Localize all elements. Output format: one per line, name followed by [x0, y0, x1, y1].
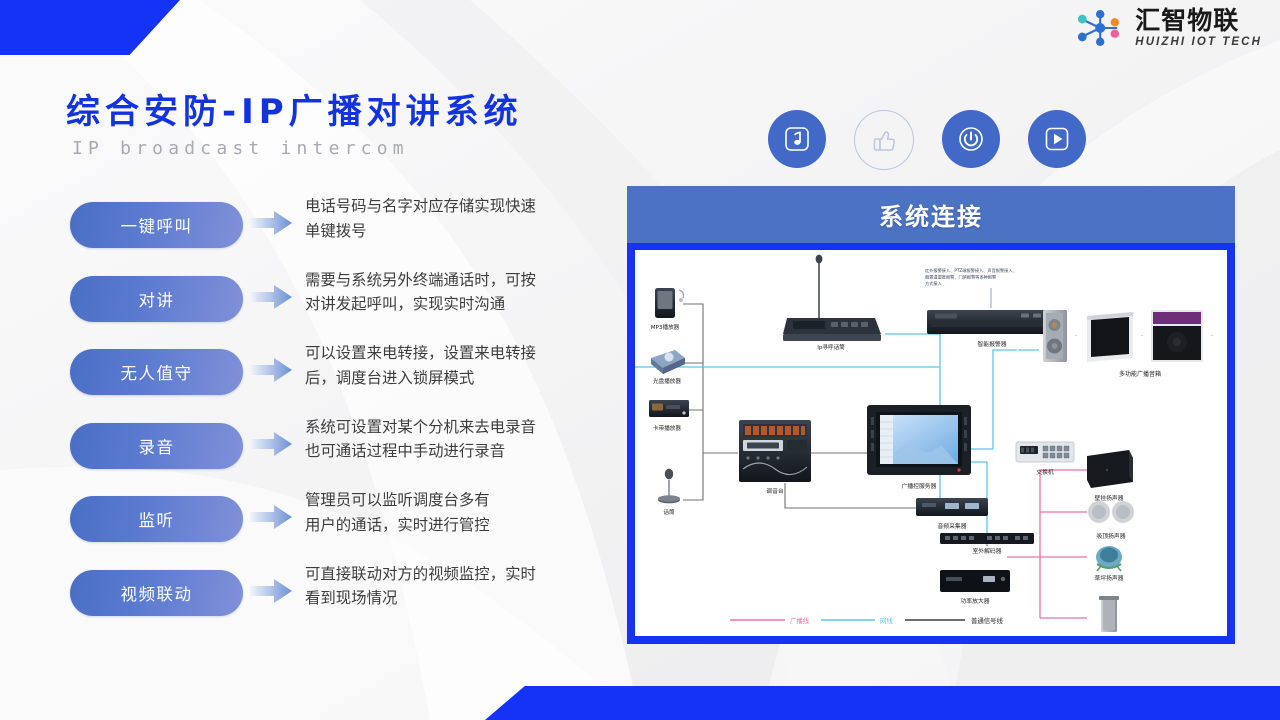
svg-text:智能报警器: 智能报警器 [978, 340, 1007, 348]
arrow-right-icon [243, 210, 299, 236]
device-power-amplifier [940, 570, 1010, 592]
svg-text:吸顶扬声器: 吸顶扬声器 [1097, 532, 1126, 540]
feature-description: 可以设置来电转接，设置来电转接 后，调度台进入锁屏模式 [299, 341, 620, 391]
speaker-lawn [1096, 546, 1122, 571]
music-note-icon-button[interactable] [768, 110, 826, 168]
page-subtitle: IP broadcast intercom [72, 138, 409, 159]
svg-text:广播线: 广播线 [790, 616, 810, 625]
svg-text:普通信号线: 普通信号线 [971, 616, 1004, 625]
play-icon-button[interactable] [1028, 110, 1086, 168]
svg-text:方式接入: 方式接入 [925, 280, 943, 287]
device-network-switch [1016, 442, 1074, 462]
svg-text:烟雾温湿度报警、门禁报警等多种报警: 烟雾温湿度报警、门禁报警等多种报警 [925, 274, 997, 281]
feature-description: 系统可设置对某个分机来去电录音 也可通话过程中手动进行录音 [299, 415, 620, 465]
svg-text:壁挂扬声器: 壁挂扬声器 [1095, 494, 1124, 502]
molecule-nodes-icon [1075, 8, 1127, 48]
arrow-right-icon [243, 357, 299, 383]
device-outdoor-decoder [940, 533, 1034, 544]
speaker-group-label: 多功能广播音箱 [1119, 370, 1161, 378]
brand-name-cn: 汇智物联 [1135, 8, 1262, 33]
feature-line: 需要与系统另外终端通话时，可按 [305, 268, 620, 293]
corner-accent-bottom-right [485, 686, 1280, 720]
feature-line: 电话号码与名字对应存储实现快速 [305, 194, 620, 219]
feature-pill[interactable]: 监听 [70, 496, 243, 542]
svg-text:·: · [1141, 333, 1143, 340]
system-connection-panel: 系统连接 [627, 186, 1235, 644]
feature-line: 可以设置来电转接，设置来电转接 [305, 341, 620, 366]
speaker-outdoor-column [1099, 596, 1119, 632]
feature-row: 一键呼叫 电话号码与名字对应存储实现快速 单键拨号 [70, 196, 620, 257]
speaker-wall-mounted [1087, 450, 1133, 488]
feature-pill[interactable]: 视频联动 [70, 570, 243, 616]
device-broadcast-server [867, 405, 971, 475]
page-title: 综合安防-IP广播对讲系统 [66, 84, 523, 133]
feature-line: 单键拨号 [305, 219, 620, 244]
feature-list: 一键呼叫 电话号码与名字对应存储实现快速 单键拨号 对讲 需要与系统另外终端通话… [70, 196, 620, 637]
feature-line: 也可通话过程中手动进行录音 [305, 439, 620, 464]
svg-text:话筒: 话筒 [663, 508, 675, 516]
feature-row: 对讲 需要与系统另外终端通话时，可按 对讲发起呼叫，实现实时沟通 [70, 270, 620, 331]
svg-text:功率放大器: 功率放大器 [961, 597, 990, 605]
arrow-right-icon [243, 504, 299, 530]
feature-line: 管理员可以监听调度台多有 [305, 488, 620, 513]
brand-name-en: HUIZHI IOT TECH [1135, 37, 1262, 49]
feature-row: 无人值守 可以设置来电转接，设置来电转接 后，调度台进入锁屏模式 [70, 343, 620, 404]
svg-text:Ip寻呼话筒: Ip寻呼话筒 [817, 343, 845, 351]
feature-line: 后，调度台进入锁屏模式 [305, 366, 620, 391]
arrow-right-icon [243, 284, 299, 310]
feature-pill[interactable]: 无人值守 [70, 349, 243, 395]
svg-text:红外报警接入、PTZ球报警接入、声音报警接入、: 红外报警接入、PTZ球报警接入、声音报警接入、 [925, 267, 1017, 274]
svg-text:广播控服务器: 广播控服务器 [902, 482, 937, 490]
feature-description: 管理员可以监听调度台多有 用户的通话，实时进行管控 [299, 488, 620, 538]
header-icon-row [768, 110, 1086, 170]
device-tape-player [649, 400, 689, 417]
svg-text:草坪扬声器: 草坪扬声器 [1095, 574, 1124, 582]
power-icon-button[interactable] [942, 110, 1000, 168]
feature-row: 监听 管理员可以监听调度台多有 用户的通话，实时进行管控 [70, 490, 620, 551]
svg-text:·: · [1211, 333, 1213, 340]
feature-row: 视频联动 可直接联动对方的视频监控，实时 看到现场情况 [70, 564, 620, 625]
thumbs-up-icon-button[interactable] [854, 110, 914, 170]
feature-description: 需要与系统另外终端通话时，可按 对讲发起呼叫，实现实时沟通 [299, 268, 620, 318]
feature-line: 可直接联动对方的视频监控，实时 [305, 562, 620, 587]
svg-text:光盘播放器: 光盘播放器 [653, 377, 681, 385]
svg-text:网线: 网线 [880, 616, 893, 625]
svg-text:MP3播放器: MP3播放器 [651, 323, 680, 331]
svg-text:音频采集器: 音频采集器 [938, 522, 967, 530]
system-topology-diagram: MP3播放器 光盘播放器 卡带播放器 [635, 250, 1227, 636]
feature-pill[interactable]: 对讲 [70, 276, 243, 322]
brand-logo: 汇智物联 HUIZHI IOT TECH [1075, 8, 1262, 49]
panel-header: 系统连接 [627, 186, 1235, 243]
feature-description: 可直接联动对方的视频监控，实时 看到现场情况 [299, 562, 620, 612]
feature-line: 用户的通话，实时进行管控 [305, 513, 620, 538]
device-alarm-unit [927, 310, 1057, 334]
device-audio-collector [916, 498, 988, 516]
feature-pill[interactable]: 一键呼叫 [70, 202, 243, 248]
svg-text:室外解码器: 室外解码器 [973, 547, 1002, 555]
feature-row: 录音 系统可设置对某个分机来去电录音 也可通话过程中手动进行录音 [70, 417, 620, 478]
arrow-right-icon [243, 431, 299, 457]
svg-text:调音台: 调音台 [766, 487, 784, 495]
svg-text:·: · [1075, 333, 1077, 340]
feature-line: 系统可设置对某个分机来去电录音 [305, 415, 620, 440]
device-mixer [739, 420, 811, 482]
svg-text:交换机: 交换机 [1036, 468, 1054, 476]
panel-frame: MP3播放器 光盘播放器 卡带播放器 [627, 243, 1235, 644]
feature-description: 电话号码与名字对应存储实现快速 单键拨号 [299, 194, 620, 244]
feature-line: 对讲发起呼叫，实现实时沟通 [305, 292, 620, 317]
panel-title: 系统连接 [879, 197, 983, 232]
feature-pill[interactable]: 录音 [70, 423, 243, 469]
svg-text:卡带播放器: 卡带播放器 [653, 424, 681, 432]
arrow-right-icon [243, 578, 299, 604]
feature-line: 看到现场情况 [305, 586, 620, 611]
